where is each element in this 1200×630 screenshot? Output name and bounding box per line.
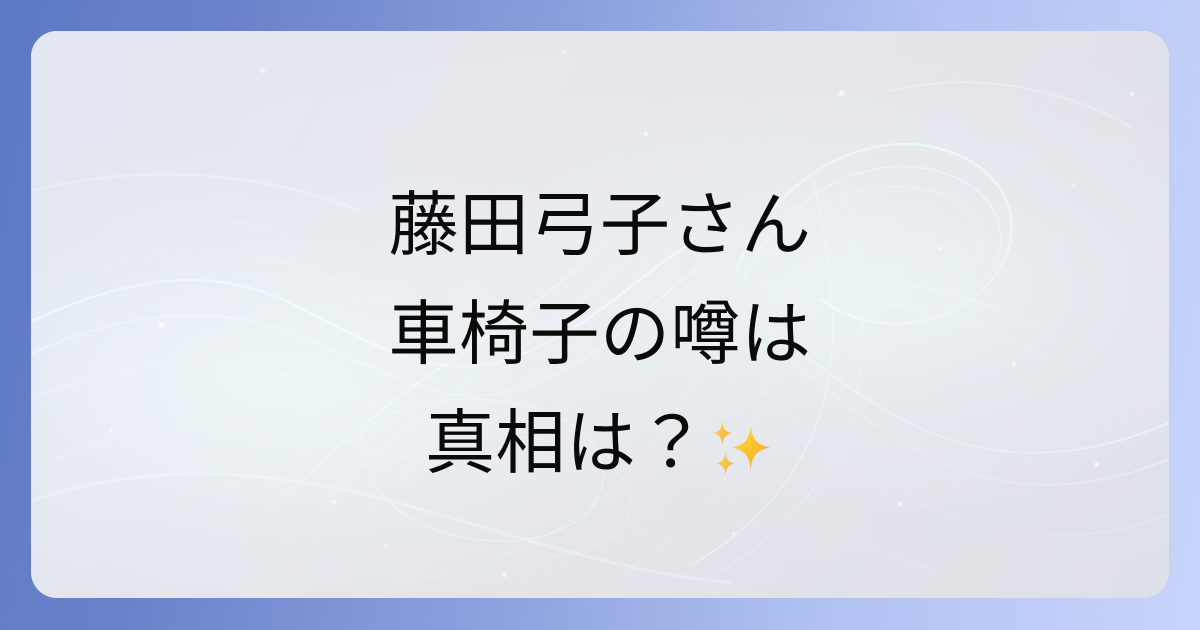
eyecatch-canvas: 藤田弓子さん 車椅子の噂は 真相は？ bbox=[0, 0, 1200, 630]
speck-particle bbox=[259, 67, 266, 74]
headline-line-2: 車椅子の噂は bbox=[31, 280, 1169, 389]
speck-particle bbox=[1129, 91, 1135, 97]
speck-particle bbox=[561, 49, 566, 54]
speck-particle bbox=[897, 501, 903, 507]
headline-block: 藤田弓子さん 車椅子の噂は 真相は？ bbox=[31, 171, 1169, 498]
speck-particle bbox=[731, 531, 736, 536]
speck-particle bbox=[643, 131, 649, 137]
content-card: 藤田弓子さん 車椅子の噂は 真相は？ bbox=[31, 31, 1169, 598]
speck-particle bbox=[383, 543, 388, 548]
sparkles-icon bbox=[709, 415, 775, 481]
speck-particle bbox=[331, 499, 337, 505]
headline-line-3: 真相は？ bbox=[31, 389, 1169, 498]
headline-line-3-text: 真相は？ bbox=[425, 389, 707, 498]
headline-line-1: 藤田弓子さん bbox=[31, 171, 1169, 280]
speck-particle bbox=[837, 89, 846, 98]
speck-particle bbox=[501, 571, 508, 578]
